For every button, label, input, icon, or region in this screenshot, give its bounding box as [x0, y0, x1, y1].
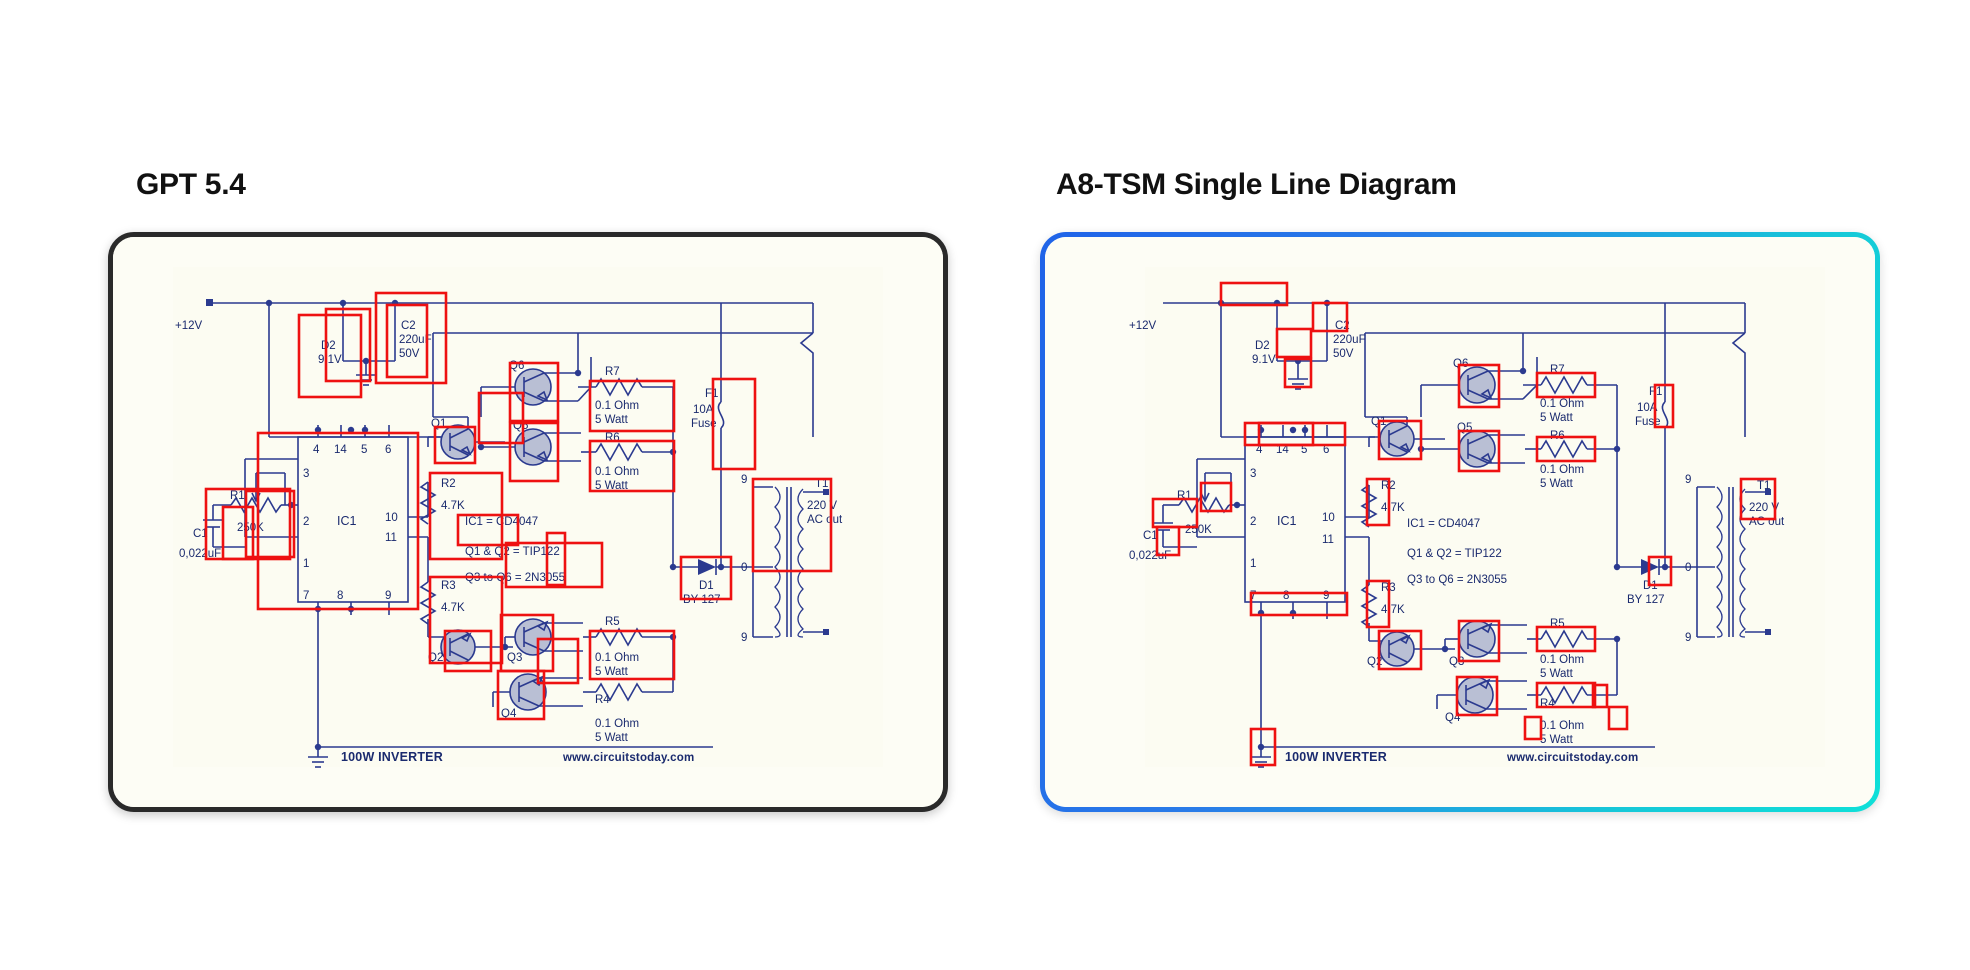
- label-r6-value2: 5 Watt: [1540, 478, 1574, 490]
- tap-9-top: 9: [1685, 474, 1691, 486]
- label-c2-value: 220uF: [1333, 334, 1366, 346]
- label-r2-value: 4.7K: [441, 500, 465, 512]
- left-schematic-svg: +12V D2 9.1V C2 220uF 50V 4 14 5 6 3 2 1…: [113, 237, 943, 807]
- tap-9-bot: 9: [1685, 632, 1691, 644]
- pin-6: 6: [385, 444, 391, 456]
- pin-11: 11: [385, 532, 397, 544]
- label-c2-value2: 50V: [399, 348, 420, 360]
- label-r6-value: 0.1 Ohm: [595, 466, 639, 478]
- label-supply: +12V: [175, 320, 203, 332]
- right-schematic-sheet: +12V D2 9.1V C2 220uF 50V 4 14 5 6 3 2 1…: [1045, 237, 1875, 807]
- pin-4: 4: [313, 444, 320, 456]
- pin-2: 2: [303, 516, 309, 528]
- schematic-footer-title: 100W INVERTER: [341, 750, 443, 764]
- label-r3-value: 4.7K: [1381, 604, 1405, 616]
- note-q1q2: Q1 & Q2 = TIP122: [1407, 548, 1502, 560]
- left-diagram-card[interactable]: +12V D2 9.1V C2 220uF 50V 4 14 5 6 3 2 1…: [108, 232, 948, 812]
- label-r5-value2: 5 Watt: [1540, 668, 1574, 680]
- right-diagram-card[interactable]: +12V D2 9.1V C2 220uF 50V 4 14 5 6 3 2 1…: [1040, 232, 1880, 812]
- label-c2-value2: 50V: [1333, 348, 1354, 360]
- pin-7: 7: [303, 590, 309, 602]
- tap-0-mid: 0: [741, 562, 747, 574]
- label-t1-ref: T1: [1757, 480, 1770, 492]
- label-d1-value: BY 127: [1627, 594, 1665, 606]
- label-r2-ref: R2: [441, 478, 456, 490]
- label-r1-value: 250K: [237, 522, 264, 534]
- label-d2-ref: D2: [321, 340, 336, 352]
- pin-11: 11: [1322, 534, 1334, 546]
- pin-10: 10: [1322, 512, 1335, 524]
- label-r4-value: 0.1 Ohm: [1540, 720, 1584, 732]
- pin-14: 14: [334, 444, 347, 456]
- label-r7-value2: 5 Watt: [1540, 412, 1574, 424]
- label-d2-value: 9.1V: [1252, 354, 1276, 366]
- label-d2-ref: D2: [1255, 340, 1270, 352]
- pin-10: 10: [385, 512, 398, 524]
- schematic-source-url: www.circuitstoday.com: [562, 752, 694, 764]
- note-q1q2: Q1 & Q2 = TIP122: [465, 546, 560, 558]
- label-r5-value: 0.1 Ohm: [595, 652, 639, 664]
- tap-0-mid: 0: [1685, 562, 1691, 574]
- pin-9: 9: [385, 590, 391, 602]
- label-r4-value: 0.1 Ohm: [595, 718, 639, 730]
- label-r3-value: 4.7K: [441, 602, 465, 614]
- label-ic1-ref: IC1: [337, 514, 357, 528]
- label-r7-value: 0.1 Ohm: [595, 400, 639, 412]
- pin-5: 5: [361, 444, 367, 456]
- label-c1-ref: C1: [1143, 530, 1158, 542]
- label-d2-value: 9.1V: [318, 354, 342, 366]
- pin-1: 1: [303, 558, 309, 570]
- label-r6-value: 0.1 Ohm: [1540, 464, 1584, 476]
- label-q3: Q3: [507, 652, 522, 664]
- label-r2-value: 4.7K: [1381, 502, 1405, 514]
- label-r4-ref: R4: [595, 694, 610, 706]
- label-r3-ref: R3: [441, 580, 456, 592]
- pin-8: 8: [337, 590, 343, 602]
- label-r5-value: 0.1 Ohm: [1540, 654, 1584, 666]
- label-d1-ref: D1: [699, 580, 714, 592]
- tap-9-top: 9: [741, 474, 747, 486]
- left-schematic-sheet: +12V D2 9.1V C2 220uF 50V 4 14 5 6 3 2 1…: [113, 237, 943, 807]
- schematic-source-url: www.circuitstoday.com: [1506, 752, 1638, 764]
- label-r7-ref: R7: [605, 366, 620, 378]
- label-r4-value2: 5 Watt: [1540, 734, 1574, 746]
- note-ic1: IC1 = CD4047: [1407, 518, 1480, 530]
- schematic-footer-title: 100W INVERTER: [1285, 750, 1387, 764]
- label-r4-value2: 5 Watt: [595, 732, 629, 744]
- label-t1-value: 220 V: [807, 500, 837, 512]
- pin-3: 3: [303, 468, 309, 480]
- label-c2-ref: C2: [401, 320, 416, 332]
- label-supply: +12V: [1129, 320, 1157, 332]
- pin-3: 3: [1250, 468, 1256, 480]
- comparison-page: GPT 5.4: [0, 0, 1970, 970]
- label-f1-value: 10A: [693, 404, 714, 416]
- label-r1-ref: R1: [230, 490, 245, 502]
- left-panel-title: GPT 5.4: [136, 168, 246, 202]
- label-r5-value2: 5 Watt: [595, 666, 629, 678]
- right-panel-title: A8-TSM Single Line Diagram: [1056, 168, 1457, 202]
- pin-2: 2: [1250, 516, 1256, 528]
- label-r7-value: 0.1 Ohm: [1540, 398, 1584, 410]
- tap-9-bot: 9: [741, 632, 747, 644]
- label-t1-value2: AC out: [807, 514, 843, 526]
- pin-1: 1: [1250, 558, 1256, 570]
- label-r5-ref: R5: [605, 616, 620, 628]
- note-q3q6: Q3 to Q6 = 2N3055: [1407, 574, 1507, 586]
- label-r7-value2: 5 Watt: [595, 414, 629, 426]
- label-ic1-ref: IC1: [1277, 514, 1297, 528]
- right-schematic-svg: +12V D2 9.1V C2 220uF 50V 4 14 5 6 3 2 1…: [1045, 237, 1875, 807]
